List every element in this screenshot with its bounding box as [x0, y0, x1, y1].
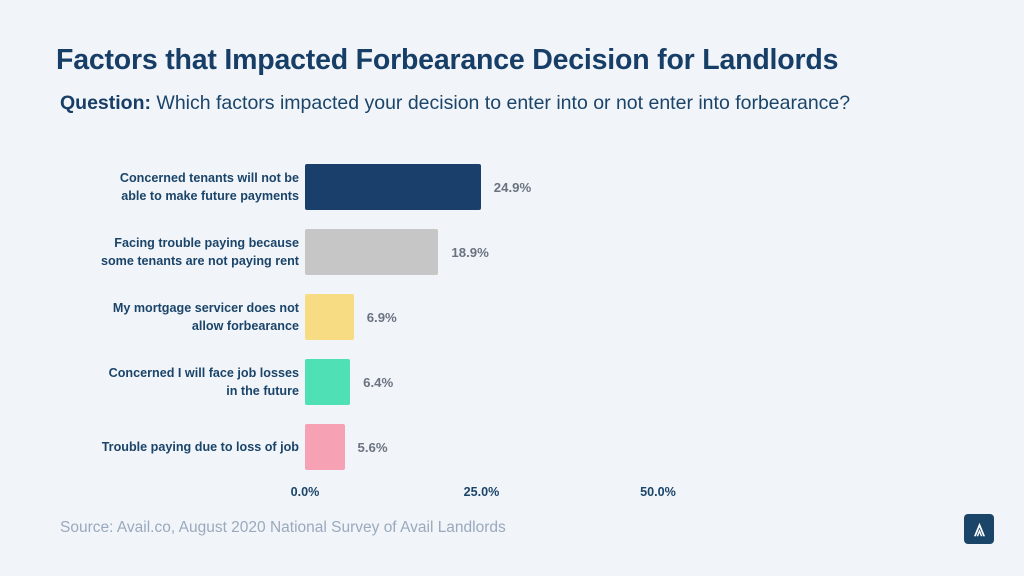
- category-label-line: able to make future payments: [121, 187, 299, 205]
- question-body: Which factors impacted your decision to …: [151, 92, 850, 114]
- question-text: Question: Which factors impacted your de…: [60, 88, 940, 118]
- bar-row: Concerned tenants will not beable to mak…: [0, 155, 1024, 219]
- x-axis-tick-label: 50.0%: [640, 485, 676, 499]
- category-label-line: My mortgage servicer does not: [113, 299, 299, 317]
- page-title: Factors that Impacted Forbearance Decisi…: [56, 44, 986, 77]
- x-axis: 0.0%25.0%50.0%: [0, 485, 1024, 509]
- avail-logo: [964, 514, 994, 544]
- category-label-line: some tenants are not paying rent: [101, 252, 299, 270]
- bar-row: Trouble paying due to loss of job5.6%: [0, 415, 1024, 479]
- category-label-line: Concerned I will face job losses: [109, 364, 299, 382]
- bar-row: My mortgage servicer does notallow forbe…: [0, 285, 1024, 349]
- bar-and-value: 6.4%: [305, 350, 393, 414]
- bar[interactable]: [305, 424, 345, 470]
- bar-and-value: 18.9%: [305, 220, 489, 284]
- bar-and-value: 6.9%: [305, 285, 397, 349]
- bar-value-label: 6.9%: [367, 310, 397, 325]
- category-label: Facing trouble paying becausesome tenant…: [60, 220, 299, 284]
- source-note: Source: Avail.co, August 2020 National S…: [60, 519, 506, 537]
- bar-and-value: 24.9%: [305, 155, 531, 219]
- category-label: Trouble paying due to loss of job: [60, 415, 299, 479]
- bar[interactable]: [305, 164, 481, 210]
- category-label: Concerned I will face job lossesin the f…: [60, 350, 299, 414]
- category-label-line: Concerned tenants will not be: [120, 169, 299, 187]
- x-axis-tick-label: 0.0%: [291, 485, 320, 499]
- slide-canvas: Factors that Impacted Forbearance Decisi…: [0, 0, 1024, 576]
- bar[interactable]: [305, 229, 438, 275]
- bar-and-value: 5.6%: [305, 415, 388, 479]
- bar-row: Facing trouble paying becausesome tenant…: [0, 220, 1024, 284]
- bar-row: Concerned I will face job lossesin the f…: [0, 350, 1024, 414]
- bar-chart: Concerned tenants will not beable to mak…: [0, 155, 1024, 485]
- bar-value-label: 5.6%: [358, 440, 388, 455]
- bar[interactable]: [305, 359, 350, 405]
- bar-value-label: 6.4%: [363, 375, 393, 390]
- category-label: Concerned tenants will not beable to mak…: [60, 155, 299, 219]
- x-axis-tick-label: 25.0%: [464, 485, 500, 499]
- category-label-line: in the future: [226, 382, 299, 400]
- bar-value-label: 24.9%: [494, 180, 531, 195]
- bar[interactable]: [305, 294, 354, 340]
- bar-value-label: 18.9%: [451, 245, 488, 260]
- category-label: My mortgage servicer does notallow forbe…: [60, 285, 299, 349]
- category-label-line: Facing trouble paying because: [114, 234, 299, 252]
- category-label-line: allow forbearance: [192, 317, 299, 335]
- question-label: Question:: [60, 92, 151, 114]
- category-label-line: Trouble paying due to loss of job: [102, 438, 299, 456]
